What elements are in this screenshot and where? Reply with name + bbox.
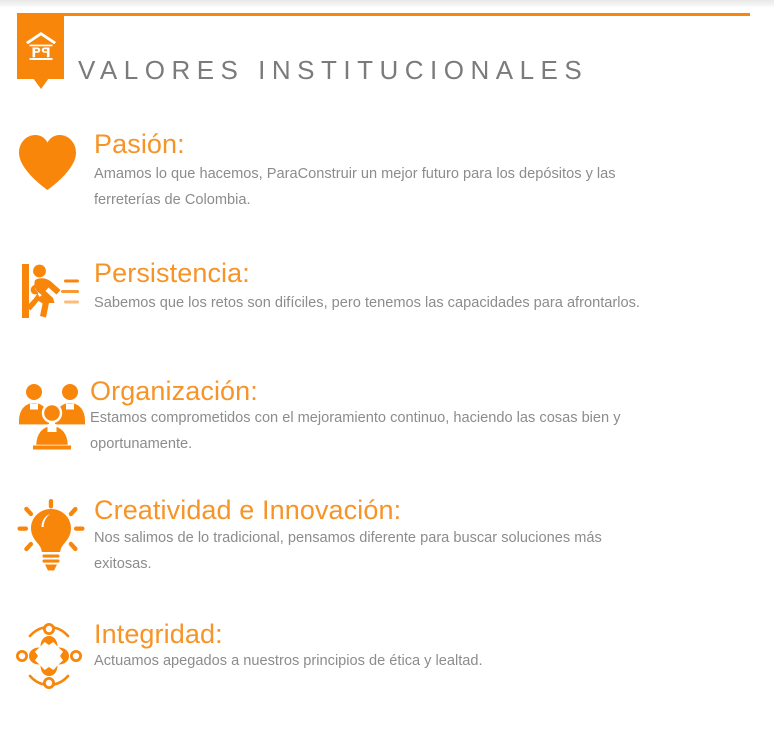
value-body: Integridad: Actuamos apegados a nuestros…	[94, 617, 642, 674]
value-title: Persistencia:	[94, 258, 642, 289]
value-title: Organización:	[90, 376, 638, 407]
value-description: Amamos lo que hacemos, ParaConstruir un …	[94, 161, 642, 213]
value-title: Pasión:	[94, 129, 642, 160]
value-body: Organización: Estamos comprometidos con …	[90, 376, 638, 457]
value-item-creatividad: Creatividad e Innovación: Nos salimos de…	[0, 495, 774, 577]
top-gray-strip	[0, 0, 774, 7]
value-description: Estamos comprometidos con el mejoramient…	[90, 405, 638, 457]
page-root: VALORES INSTITUCIONALES Pasión: Amamos l…	[0, 0, 774, 756]
lightbulb-icon	[16, 495, 94, 573]
value-item-pasion: Pasión: Amamos lo que hacemos, ParaConst…	[0, 127, 774, 213]
value-description: Nos salimos de lo tradicional, pensamos …	[94, 525, 642, 577]
people-circle-icon	[16, 617, 94, 695]
page-title: VALORES INSTITUCIONALES	[78, 55, 588, 86]
header-divider-rule	[17, 13, 750, 16]
page-header: VALORES INSTITUCIONALES	[0, 13, 774, 103]
people-group-icon	[16, 376, 94, 454]
value-item-organizacion: Organización: Estamos comprometidos con …	[0, 376, 774, 457]
value-title: Creatividad e Innovación:	[94, 495, 642, 526]
value-item-persistencia: Persistencia: Sabemos que los retos son …	[0, 256, 774, 334]
header-banner-ribbon	[17, 13, 64, 79]
value-description: Actuamos apegados a nuestros principios …	[94, 648, 642, 674]
value-body: Pasión: Amamos lo que hacemos, ParaConst…	[94, 127, 642, 213]
values-list: Pasión: Amamos lo que hacemos, ParaConst…	[0, 127, 774, 695]
value-item-integridad: Integridad: Actuamos apegados a nuestros…	[0, 617, 774, 695]
value-body: Persistencia: Sabemos que los retos son …	[94, 256, 642, 316]
house-columns-logo-icon	[25, 31, 57, 61]
value-description: Sabemos que los retos son difíciles, per…	[94, 290, 642, 316]
value-title: Integridad:	[94, 619, 642, 650]
heart-icon	[16, 127, 94, 205]
running-person-icon	[16, 256, 94, 334]
value-body: Creatividad e Innovación: Nos salimos de…	[94, 495, 642, 577]
